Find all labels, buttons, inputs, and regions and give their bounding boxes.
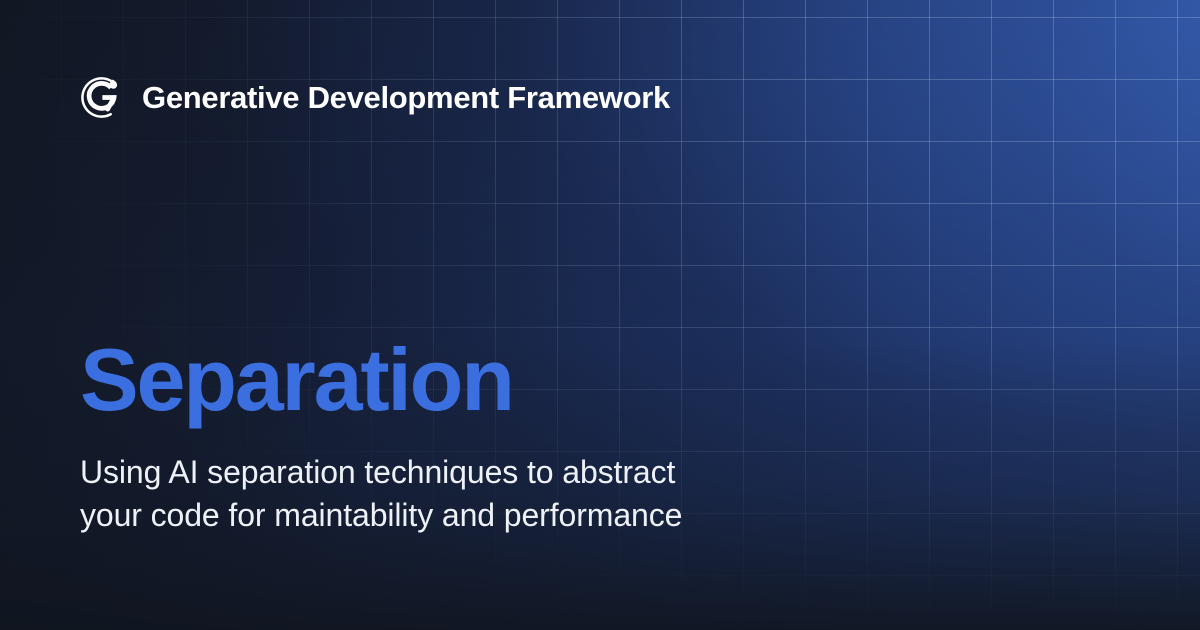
- brand-name: Generative Development Framework: [142, 82, 670, 113]
- page-title: Separation: [80, 336, 1080, 424]
- page-subtitle-line-2: your code for maintability and performan…: [80, 494, 840, 537]
- brand-header: Generative Development Framework: [78, 74, 670, 121]
- social-card: Generative Development Framework Separat…: [0, 0, 1200, 630]
- generative-g-monogram-icon: [78, 74, 125, 121]
- page-subtitle: Using AI separation techniques to abstra…: [80, 451, 840, 536]
- hero-block: Separation Using AI separation technique…: [80, 336, 1080, 536]
- page-subtitle-line-1: Using AI separation techniques to abstra…: [80, 451, 840, 494]
- card-content: Generative Development Framework Separat…: [0, 0, 1200, 630]
